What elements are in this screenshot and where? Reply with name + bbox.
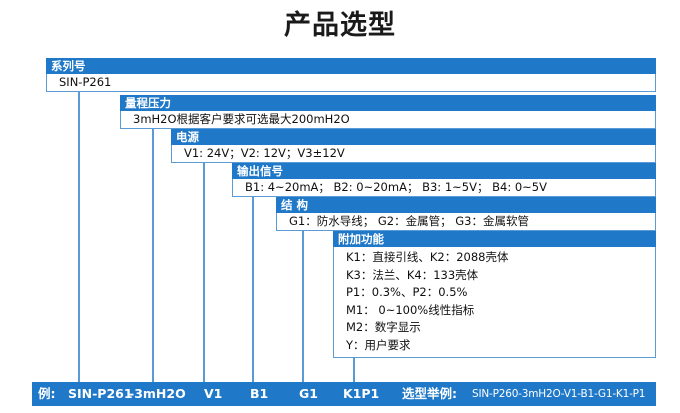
example-signal-value: B1 (250, 382, 268, 406)
section-header-output-signal: 输出信号 (232, 163, 656, 179)
additional-function-line: M2：数字显示 (346, 319, 655, 337)
additional-function-line: Y：用户要求 (346, 337, 655, 355)
example-range-value: -3mH2O (129, 382, 186, 406)
additional-function-line: K1：直接引线、K2：2088壳体 (346, 249, 655, 267)
section-body-range-pressure: 3mH2O根据客户要求可选最大200mH2O (120, 111, 656, 129)
section-header-range-pressure: 量程压力 (120, 95, 656, 111)
connector-line-structure (302, 231, 304, 383)
example-extra-value: K1P1 (343, 382, 379, 406)
section-range-pressure: 量程压力 3mH2O根据客户要求可选最大200mH2O (120, 95, 656, 129)
example-series-value: SIN-P261 (68, 382, 133, 406)
section-header-structure: 结 构 (276, 197, 656, 213)
section-body-structure: G1：防水导线； G2：金属管； G3：金属软管 (276, 213, 656, 231)
example-structure-value: G1 (299, 382, 318, 406)
section-series-number: 系列号 SIN-P261 (46, 58, 656, 92)
connector-line-range (152, 129, 154, 383)
example-label: 选型举例: (402, 382, 457, 406)
section-body-series-number: SIN-P261 (46, 74, 656, 92)
product-selection-diagram: 产品选型 系列号 SIN-P261 量程压力 3mH2O根据客户要求可选最大20… (0, 0, 680, 413)
additional-function-line: P1：0.3%、P2：0.5% (346, 284, 655, 302)
example-prefix-label: 例: (38, 382, 56, 406)
additional-function-line: K3：法兰、K4：133壳体 (346, 267, 655, 285)
section-body-output-signal: B1: 4~20mA； B2: 0~20mA； B3: 1~5V； B4: 0~… (232, 179, 656, 197)
section-body-additional-function: K1：直接引线、K2：2088壳体 K3：法兰、K4：133壳体 P1：0.3%… (333, 247, 656, 358)
section-body-power-supply: V1: 24V；V2: 12V；V3±12V (171, 145, 656, 163)
example-summary-bar: 例: SIN-P261 -3mH2O V1 B1 G1 K1P1 选型举例: S… (32, 382, 656, 406)
connector-line-signal (252, 197, 254, 383)
section-power-supply: 电源 V1: 24V；V2: 12V；V3±12V (171, 129, 656, 163)
connector-line-power (203, 163, 205, 383)
example-power-value: V1 (204, 382, 222, 406)
example-model-value: SIN-P260-3mH2O-V1-B1-G1-K1-P1 (472, 382, 645, 406)
section-structure: 结 构 G1：防水导线； G2：金属管； G3：金属软管 (276, 197, 656, 231)
connector-line-series (78, 92, 80, 383)
page-title: 产品选型 (0, 8, 680, 44)
section-header-additional-function: 附加功能 (333, 231, 656, 247)
section-header-series-number: 系列号 (46, 58, 656, 74)
additional-function-line: M1： 0~100%线性指标 (346, 302, 655, 320)
section-output-signal: 输出信号 B1: 4~20mA； B2: 0~20mA； B3: 1~5V； B… (232, 163, 656, 197)
section-header-power-supply: 电源 (171, 129, 656, 145)
section-additional-function: 附加功能 K1：直接引线、K2：2088壳体 K3：法兰、K4：133壳体 P1… (333, 231, 656, 358)
